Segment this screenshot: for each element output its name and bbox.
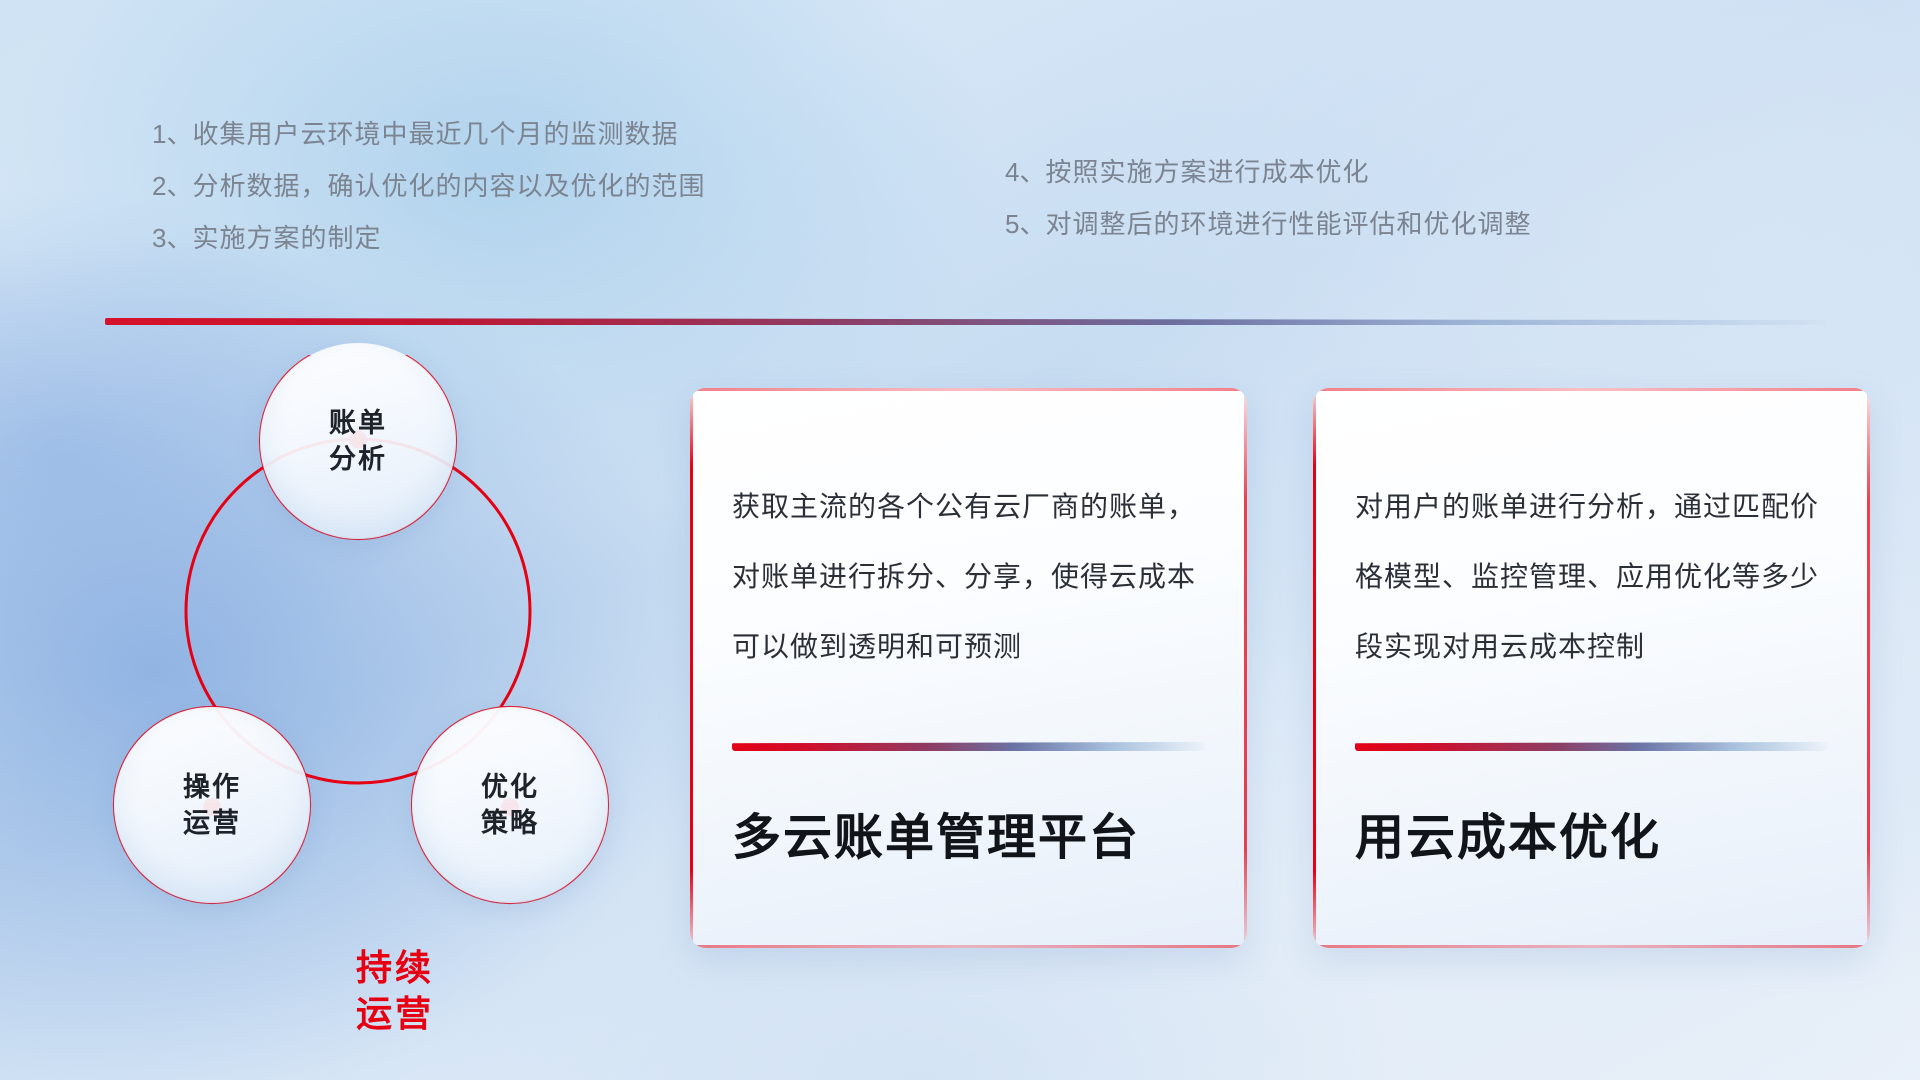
center-label-line1: 持续 [305,945,485,991]
card-divider [732,742,1205,751]
step-item: 3、实施方案的制定 [152,212,705,264]
bubble-label-line1: 优化 [481,769,539,805]
step-text: 按照实施方案进行成本优化 [1045,157,1369,187]
step-number: 2、 [152,171,192,201]
diagram-center-label: 持续 运营 [305,945,485,1037]
step-item: 2、分析数据，确认优化的内容以及优化的范围 [152,160,705,212]
card-title: 多云账单管理平台 [732,798,1223,869]
card-bottom-edge [693,945,1244,948]
step-text: 分析数据，确认优化的内容以及优化的范围 [192,171,705,201]
steps-column-right: 4、按照实施方案进行成本优化 5、对调整后的环境进行性能评估和优化调整 [1005,146,1531,250]
steps-column-left: 1、收集用户云环境中最近几个月的监测数据 2、分析数据，确认优化的内容以及优化的… [152,108,705,264]
step-number: 3、 [152,223,192,253]
feature-card-multicloud-billing[interactable]: 获取主流的各个公有云厂商的账单，对账单进行拆分、分享，使得云成本可以做到透明和可… [690,388,1247,948]
bubble-label: 账单 分析 [329,405,387,477]
card-title: 用云成本优化 [1355,798,1846,869]
diagram-bubble-optimization-strategy[interactable]: 优化 策略 [412,707,608,903]
diagram-bubble-operations[interactable]: 操作 运营 [114,707,310,903]
bubble-label-line2: 运营 [183,805,241,841]
diagram-bubble-bill-analysis[interactable]: 账单 分析 [260,343,456,539]
card-description: 获取主流的各个公有云厂商的账单，对账单进行拆分、分享，使得云成本可以做到透明和可… [732,472,1205,682]
card-top-edge [693,388,1244,391]
step-text: 对调整后的环境进行性能评估和优化调整 [1045,209,1531,239]
card-divider [1355,742,1828,751]
bubble-label: 优化 策略 [481,769,539,841]
feature-cards: 获取主流的各个公有云厂商的账单，对账单进行拆分、分享，使得云成本可以做到透明和可… [690,388,1870,948]
step-item: 4、按照实施方案进行成本优化 [1005,146,1531,198]
center-label-line2: 运营 [305,991,485,1037]
feature-card-cloud-cost-optimization[interactable]: 对用户的账单进行分析，通过匹配价格模型、监控管理、应用优化等多少段实现对用云成本… [1313,388,1870,948]
step-number: 5、 [1005,209,1045,239]
step-number: 1、 [152,119,192,149]
step-text: 实施方案的制定 [192,223,381,253]
bubble-label-line2: 策略 [481,805,539,841]
section-divider-rule [105,318,1825,325]
bubble-label: 操作 运营 [183,769,241,841]
step-number: 4、 [1005,157,1045,187]
step-item: 1、收集用户云环境中最近几个月的监测数据 [152,108,705,160]
card-bottom-edge [1316,945,1867,948]
bubble-label-line2: 分析 [329,441,387,477]
continuous-operations-diagram: 账单 分析 操作 运营 优化 策略 持续 运营 [100,355,630,935]
bubble-label-line1: 操作 [183,769,241,805]
step-text: 收集用户云环境中最近几个月的监测数据 [192,119,678,149]
card-description: 对用户的账单进行分析，通过匹配价格模型、监控管理、应用优化等多少段实现对用云成本… [1355,472,1828,682]
step-item: 5、对调整后的环境进行性能评估和优化调整 [1005,198,1531,250]
card-top-edge [1316,388,1867,391]
steps-section: 1、收集用户云环境中最近几个月的监测数据 2、分析数据，确认优化的内容以及优化的… [0,108,1920,298]
bubble-label-line1: 账单 [329,405,387,441]
